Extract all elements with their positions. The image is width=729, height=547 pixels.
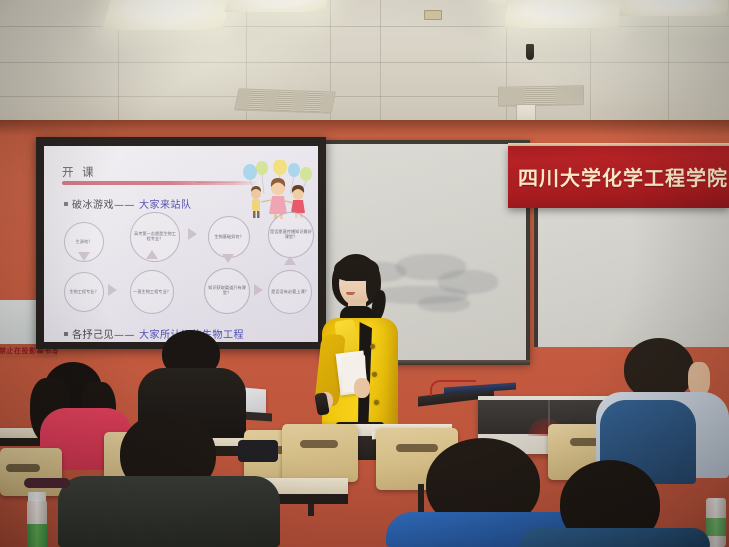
slide-flow-circle-text: 高考第一志愿是生物工程专业？ — [132, 232, 178, 241]
flow-arrow-down-icon — [222, 254, 234, 263]
flow-arrow-up-icon — [146, 250, 158, 259]
slide-title: 开 课 — [62, 164, 96, 180]
ceiling-grid-line — [380, 0, 381, 126]
slide-flow-circle-text: 生源地？ — [76, 240, 93, 245]
slide-flow-circle-text: 是否愿意传播知识最好课堂？ — [270, 230, 312, 239]
ceiling-access-plate — [424, 10, 442, 20]
slide-bullet-2-label: 各抒己见—— — [72, 326, 135, 341]
slide-flow-circle-text: 生物基础如何？ — [214, 235, 243, 240]
ceiling-light-panel — [224, 0, 331, 12]
water-bottle-label — [706, 518, 726, 536]
flow-arrow-right-icon — [188, 228, 197, 240]
student-head — [624, 338, 694, 400]
chair-handle — [396, 444, 438, 452]
slide-flow-circle: 一直生物工程专业？ — [130, 270, 174, 314]
slide-flow-circle: 生物基础如何？ — [208, 216, 250, 258]
whiteboard-smudge — [418, 296, 470, 312]
ceiling-light-panel — [102, 0, 234, 30]
lecturer — [296, 252, 424, 442]
slide-bullet-1-highlight: 大家来站队 — [139, 196, 192, 211]
flow-arrow-right-icon — [254, 284, 263, 296]
ceiling-light-panel — [504, 0, 621, 28]
ceiling-grid-line — [0, 62, 729, 63]
wall-top-shadow — [0, 120, 729, 136]
slide-bullet-1-label: 破冰游戏—— — [72, 196, 135, 211]
chair-handle — [6, 464, 40, 472]
chair-handle — [300, 440, 338, 448]
student-body — [520, 528, 710, 547]
coat-button — [374, 400, 379, 405]
bullet-square-icon — [64, 202, 68, 206]
desk-bag — [238, 440, 278, 462]
ceiling-sensor — [526, 44, 534, 60]
banner-text: 四川大学化学工程学院“探究 — [518, 162, 729, 191]
slide-bullet-1: 破冰游戏—— 大家来站队 — [64, 196, 192, 211]
children-balloons-illustration — [236, 160, 318, 220]
slide-flow-circle-text: 一直生物工程专业？ — [133, 290, 171, 295]
ceiling-grid-line — [668, 0, 669, 126]
bullet-square-icon — [64, 332, 68, 336]
coat-button — [372, 372, 377, 377]
lecturer-hand — [354, 378, 370, 398]
slide-bullet-2: 各抒己见—— 大家所认识的生物工程 — [64, 326, 244, 341]
ceiling-air-vent — [234, 88, 336, 113]
classroom-chair — [282, 424, 358, 482]
slide-flow-circle-text: 知识获取渠道只有课堂？ — [206, 286, 248, 295]
ceiling-air-vent — [498, 85, 584, 107]
classroom-chair — [0, 448, 62, 496]
classroom-photo-scene: 禁止在投影幕书写 四川大学化学工程学院“探究 开 课 破冰游戏—— 大家来站队 — [0, 0, 729, 547]
desk-object — [24, 478, 70, 488]
slide-flow-circle: 知识获取渠道只有课堂？ — [204, 268, 250, 314]
suspended-ceiling — [0, 0, 729, 126]
coat-button — [370, 344, 375, 349]
red-event-banner: 四川大学化学工程学院“探究 — [508, 146, 729, 208]
student-ear — [688, 362, 710, 396]
flow-arrow-down-icon — [78, 252, 90, 261]
slide-flow-circle: 生物工程专业？ — [64, 272, 104, 312]
student-body — [58, 476, 280, 547]
flow-arrow-right-icon — [108, 284, 117, 296]
slide-flow-circle-text: 生物工程专业？ — [69, 290, 98, 295]
ceiling-light-panel — [619, 0, 729, 16]
water-bottle-label — [27, 524, 47, 547]
flow-arrow-up-icon — [284, 256, 296, 265]
